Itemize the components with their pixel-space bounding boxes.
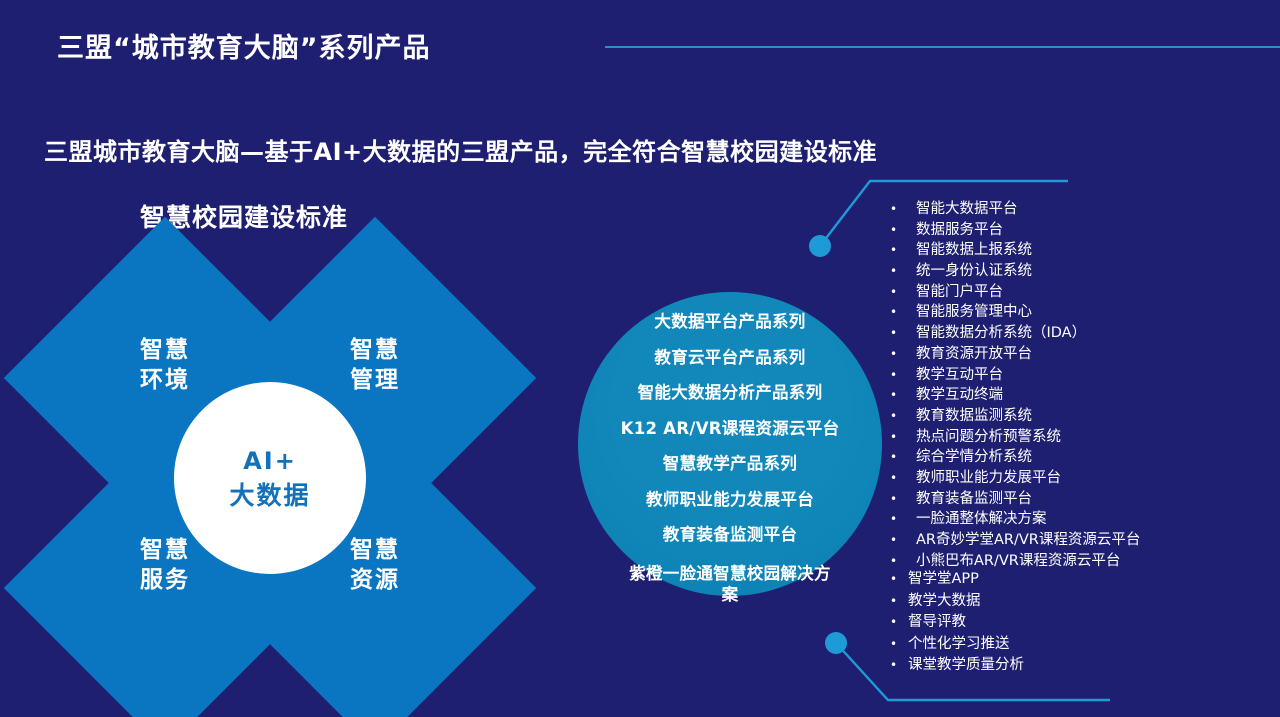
- product-line: 大数据平台产品系列: [654, 314, 805, 331]
- list-item[interactable]: •智能大数据平台: [890, 202, 1140, 217]
- bullet-icon: •: [890, 389, 916, 401]
- list-item-label: 一脸通整体解决方案: [916, 512, 1047, 527]
- list-item[interactable]: •热点问题分析预警系统: [890, 430, 1140, 445]
- bullet-icon: •: [890, 595, 908, 607]
- list-item-label: 小熊巴布AR/VR课程资源云平台: [916, 554, 1120, 569]
- list-item[interactable]: •智能门户平台: [890, 285, 1140, 300]
- bullet-icon: •: [890, 265, 916, 277]
- bullet-icon: •: [890, 451, 916, 463]
- list-item[interactable]: •智能数据上报系统: [890, 243, 1140, 258]
- list-item[interactable]: •教育装备监测平台: [890, 492, 1140, 507]
- list-item[interactable]: •教学大数据: [890, 594, 1024, 609]
- list-item[interactable]: •教师职业能力发展平台: [890, 471, 1140, 486]
- list-item-label: 教学互动平台: [916, 368, 1003, 383]
- callout-dot-bottom: [825, 632, 847, 654]
- bullet-icon: •: [890, 431, 916, 443]
- list-item-label: 智能服务管理中心: [916, 305, 1032, 320]
- bullet-icon: •: [890, 534, 916, 546]
- bullet-icon: •: [890, 493, 916, 505]
- center-circle-line1: AI+: [243, 444, 297, 479]
- list-item-label: 智能数据上报系统: [916, 243, 1032, 258]
- bullet-icon: •: [890, 513, 916, 525]
- list-item-label: 教师职业能力发展平台: [916, 471, 1061, 486]
- list-item[interactable]: •智能数据分析系统（IDA）: [890, 326, 1140, 341]
- bullet-icon: •: [890, 616, 908, 628]
- list-item[interactable]: •统一身份认证系统: [890, 264, 1140, 279]
- center-circle-ai-bigdata[interactable]: AI+ 大数据: [174, 382, 366, 574]
- list-item-label: AR奇妙学堂AR/VR课程资源云平台: [916, 533, 1140, 548]
- bullet-icon: •: [890, 203, 916, 215]
- product-line: 智能大数据分析产品系列: [638, 385, 823, 402]
- bullet-icon: •: [890, 573, 908, 585]
- list-item[interactable]: •数据服务平台: [890, 223, 1140, 238]
- list-item-label: 教学互动终端: [916, 388, 1003, 403]
- bullet-icon: •: [890, 327, 916, 339]
- product-line: 紫橙一脸通智慧校园解决方案: [625, 563, 835, 605]
- list-item[interactable]: •综合学情分析系统: [890, 450, 1140, 465]
- list-item-label: 教育装备监测平台: [916, 492, 1032, 507]
- list-item-label: 个性化学习推送: [908, 637, 1010, 652]
- list-item-label: 智能大数据平台: [916, 202, 1018, 217]
- list-item-label: 智能数据分析系统（IDA）: [916, 326, 1086, 341]
- list-item-label: 教育数据监测系统: [916, 409, 1032, 424]
- product-line: 教育装备监测平台: [663, 527, 797, 544]
- bullet-icon: •: [890, 306, 916, 318]
- bullet-icon: •: [890, 286, 916, 298]
- list-item-label: 教育资源开放平台: [916, 347, 1032, 362]
- bullet-icon: •: [890, 410, 916, 422]
- list-item-label: 统一身份认证系统: [916, 264, 1032, 279]
- bullet-icon: •: [890, 555, 916, 567]
- bullet-list-platforms: •智能大数据平台 •数据服务平台 •智能数据上报系统 •统一身份认证系统 •智能…: [890, 202, 1140, 574]
- list-item[interactable]: •教育数据监测系统: [890, 409, 1140, 424]
- bullet-icon: •: [890, 244, 916, 256]
- list-item[interactable]: •教学互动终端: [890, 388, 1140, 403]
- list-item[interactable]: •智学堂APP: [890, 572, 1024, 587]
- list-item-label: 热点问题分析预警系统: [916, 430, 1061, 445]
- list-item-label: 课堂教学质量分析: [908, 658, 1024, 673]
- product-line: 智慧教学产品系列: [663, 456, 797, 473]
- list-item[interactable]: •AR奇妙学堂AR/VR课程资源云平台: [890, 533, 1140, 548]
- bullet-icon: •: [890, 348, 916, 360]
- list-item[interactable]: •教育资源开放平台: [890, 347, 1140, 362]
- bullet-list-teaching: •智学堂APP •教学大数据 •督导评教 •个性化学习推送 •课堂教学质量分析: [890, 572, 1024, 680]
- list-item-label: 督导评教: [908, 615, 966, 630]
- list-item[interactable]: •小熊巴布AR/VR课程资源云平台: [890, 554, 1140, 569]
- list-item[interactable]: •智能服务管理中心: [890, 305, 1140, 320]
- product-line: 教师职业能力发展平台: [646, 492, 814, 509]
- list-item[interactable]: •一脸通整体解决方案: [890, 512, 1140, 527]
- diamond-cluster: 智慧 环境 智慧 管理 智慧 服务 智慧 资源 AI+ 大数据: [0, 0, 560, 717]
- list-item-label: 智能门户平台: [916, 285, 1003, 300]
- product-line: K12 AR/VR课程资源云平台: [621, 421, 840, 438]
- list-item-label: 综合学情分析系统: [916, 450, 1032, 465]
- center-circle-line2: 大数据: [229, 479, 310, 513]
- title-divider: [605, 46, 1280, 48]
- product-series-circle[interactable]: 大数据平台产品系列 教育云平台产品系列 智能大数据分析产品系列 K12 AR/V…: [578, 292, 882, 596]
- list-item[interactable]: •教学互动平台: [890, 368, 1140, 383]
- list-item-label: 智学堂APP: [908, 572, 979, 587]
- list-item[interactable]: •个性化学习推送: [890, 637, 1024, 652]
- callout-dot-top: [809, 235, 831, 257]
- list-item[interactable]: •督导评教: [890, 615, 1024, 630]
- slide-root: 三盟“城市教育大脑”系列产品 三盟城市教育大脑—基于AI+大数据的三盟产品，完全…: [0, 0, 1280, 717]
- bullet-icon: •: [890, 224, 916, 236]
- bullet-icon: •: [890, 472, 916, 484]
- bullet-icon: •: [890, 369, 916, 381]
- bullet-icon: •: [890, 638, 908, 650]
- list-item-label: 数据服务平台: [916, 223, 1003, 238]
- list-item-label: 教学大数据: [908, 594, 981, 609]
- list-item[interactable]: •课堂教学质量分析: [890, 658, 1024, 673]
- bullet-icon: •: [890, 659, 908, 671]
- product-line: 教育云平台产品系列: [654, 350, 805, 367]
